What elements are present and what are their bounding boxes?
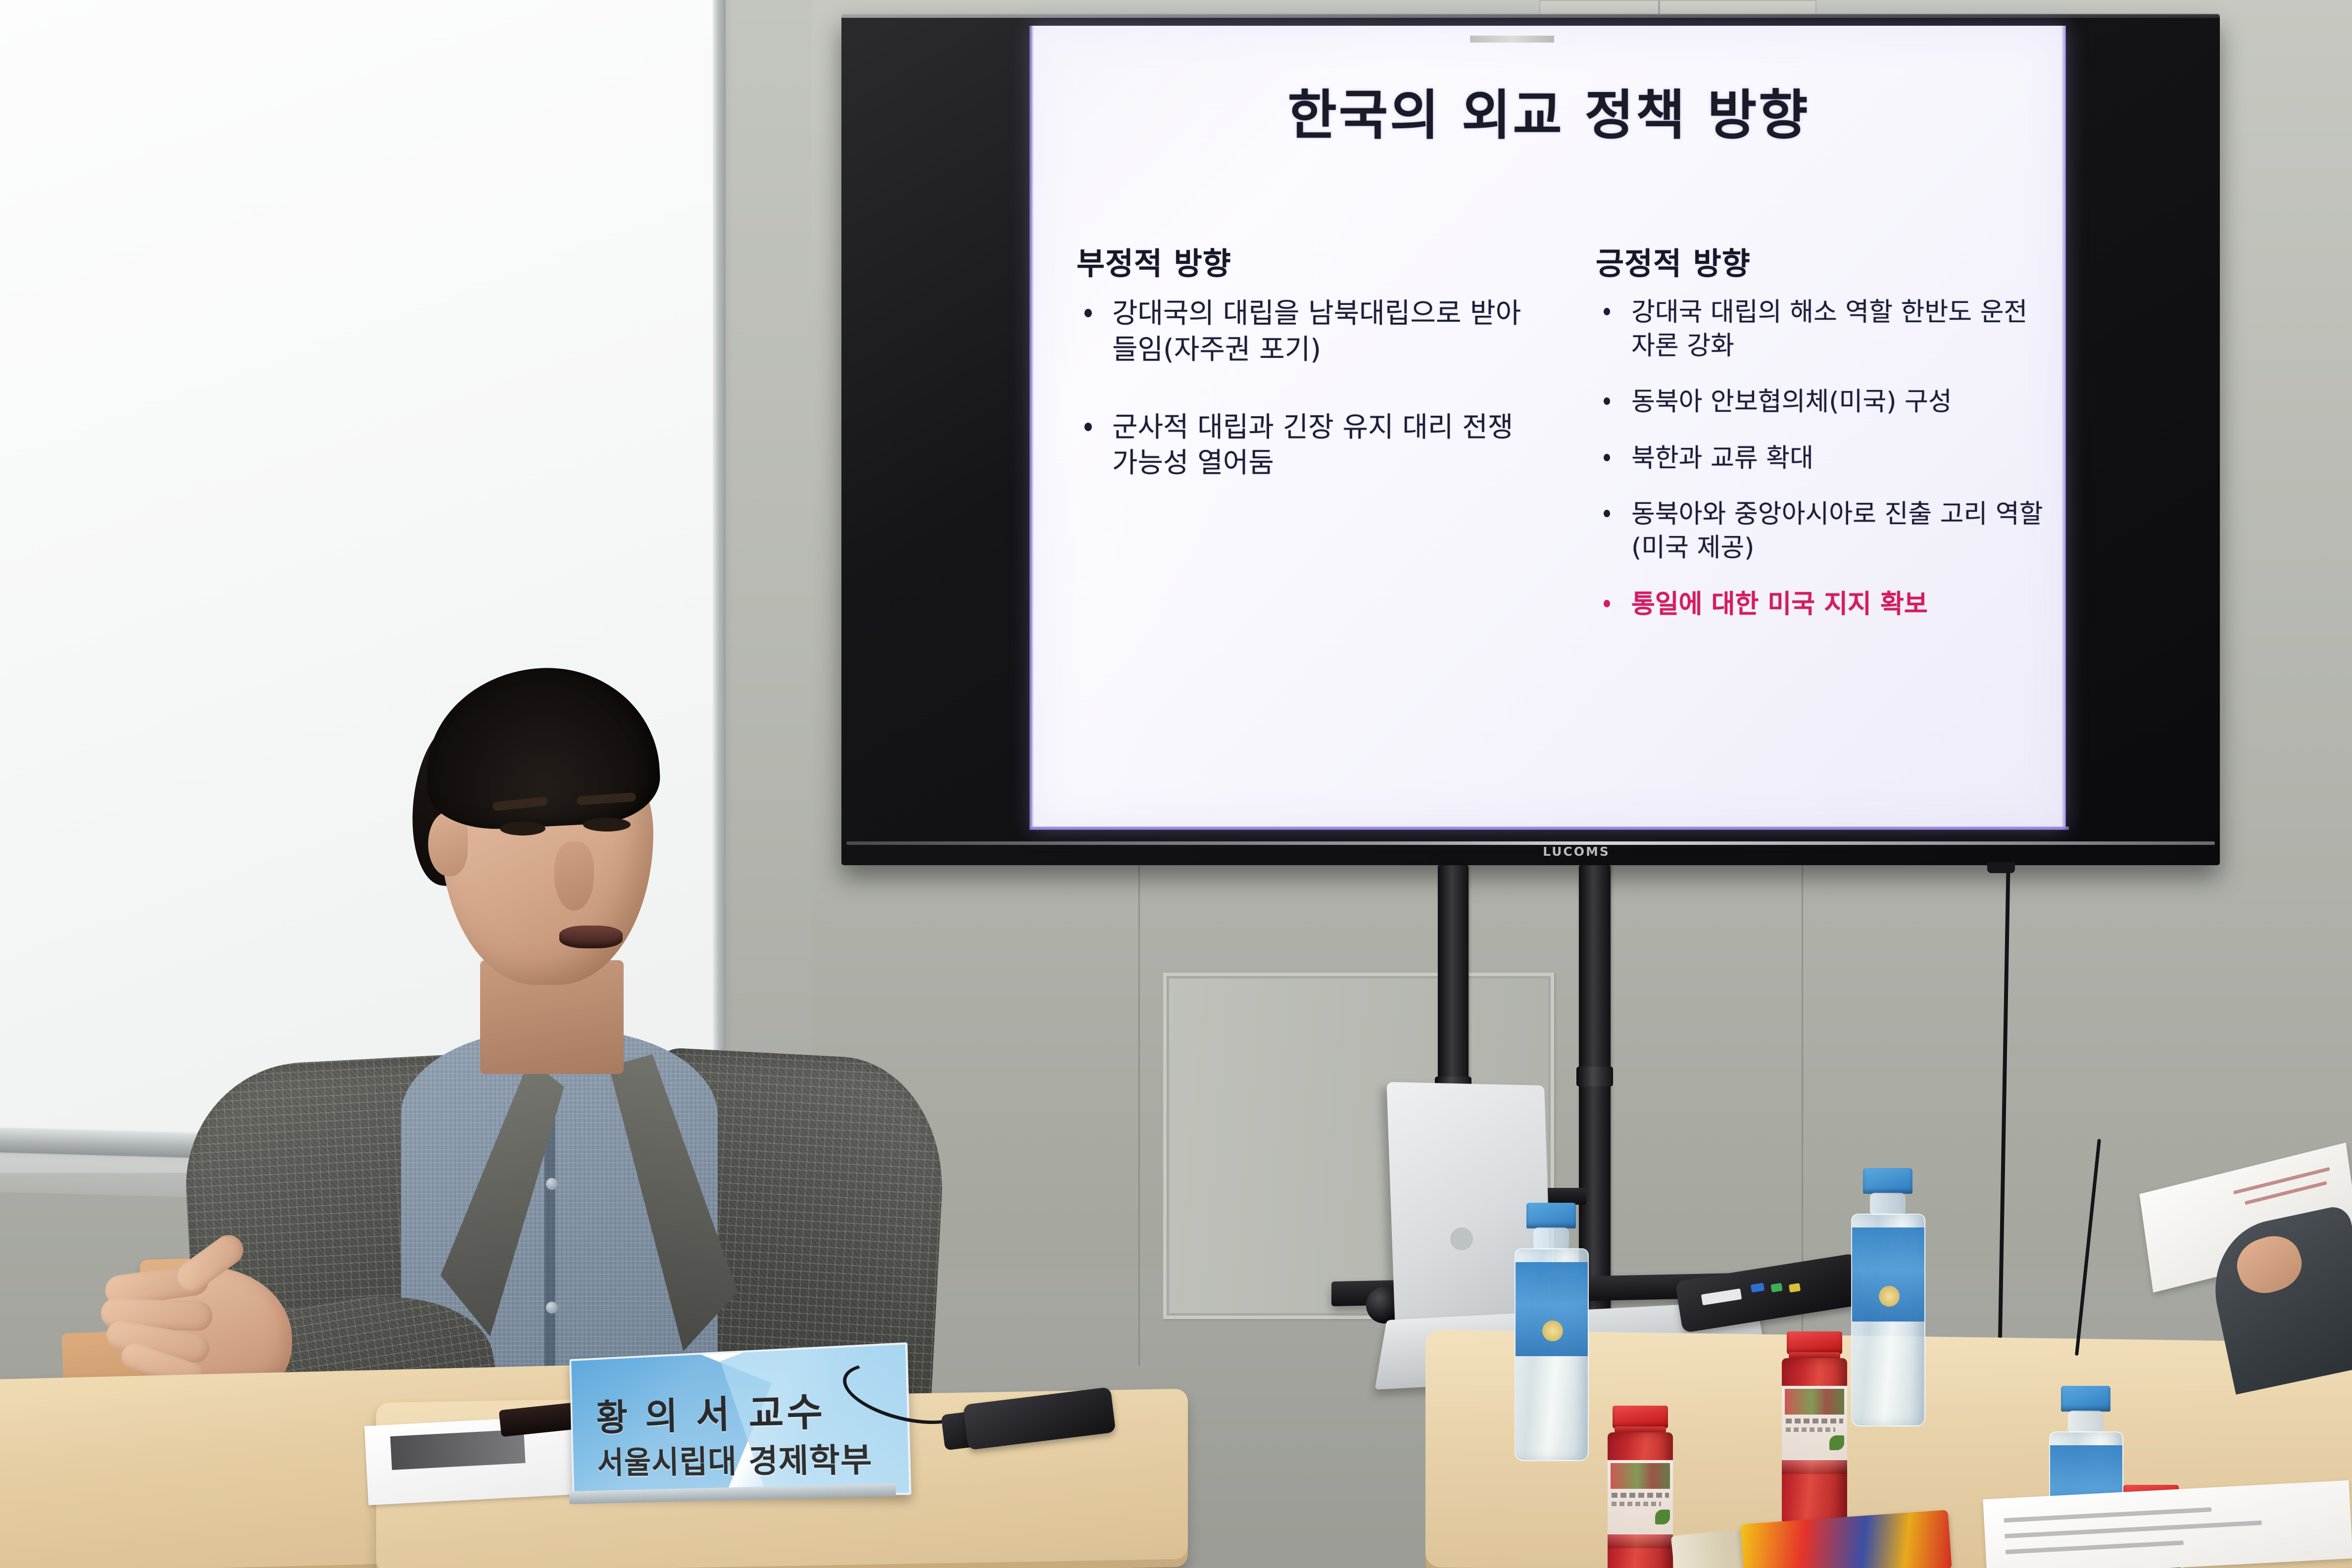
bottle-neck	[1870, 1193, 1906, 1216]
bullet-item: 동북아와 중앙아시아로 진출 고리 역할(미국 제공)	[1596, 498, 2049, 565]
leaf-icon	[1829, 1435, 1844, 1450]
bullet-text: 동북아와 중앙아시아로 진출 고리 역할(미국 제공)	[1631, 499, 2043, 563]
eye-right	[583, 818, 631, 832]
remote-button[interactable]	[1701, 1288, 1742, 1305]
bullet-item: 동북아 안보협의체(미국) 구성	[1596, 386, 2049, 419]
hair	[422, 662, 662, 833]
slide-column-negative: 부정적 방향 강대국의 대립을 남북대립으로 받아들임(자주권 포기) 군사적 …	[1032, 239, 1546, 783]
mouth	[559, 926, 623, 948]
display-ir-sensor	[1987, 862, 2015, 873]
bottle-cap	[1613, 1406, 1668, 1428]
bullet-item-highlighted: 통일에 대한 미국 지지 확보	[1596, 588, 2049, 622]
column-heading-positive: 긍정적 방향	[1596, 239, 2049, 283]
document-line	[2004, 1507, 2211, 1522]
bottle-cap	[1787, 1331, 1842, 1354]
bullet-dot-icon	[1604, 454, 1610, 461]
wall-seam	[1138, 841, 1140, 1366]
column-heading-negative: 부정적 방향	[1077, 239, 1529, 283]
bullet-text: 강대국 대립의 해소 역할 한반도 운전자론 강화	[1631, 297, 2027, 361]
remote-button[interactable]	[1789, 1283, 1801, 1292]
bottle-cap	[1526, 1203, 1576, 1228]
bottle-neck	[2068, 1411, 2104, 1433]
bottle-label	[1608, 1460, 1673, 1534]
label-text-lines	[1612, 1493, 1669, 1498]
bullet-item: 군사적 대립과 긴장 유지 대리 전쟁가능성 열어둠	[1077, 410, 1529, 482]
bottle-label	[1516, 1262, 1588, 1356]
label-text-lines	[1786, 1419, 1843, 1423]
bullet-item: 강대국 대립의 해소 역할 한반도 운전자론 강화	[1596, 296, 2049, 363]
remote-button[interactable]	[1751, 1283, 1764, 1293]
shirt-button	[546, 1178, 558, 1190]
slide-column-positive: 긍정적 방향 강대국 대립의 해소 역할 한반도 운전자론 강화 동북아 안보협…	[1546, 239, 2065, 783]
display-brand-logo: LUCOMS	[1515, 844, 1638, 861]
bottle-label-seal-icon	[1879, 1286, 1900, 1307]
leaf-icon	[1655, 1510, 1670, 1524]
bullet-dot-icon	[1604, 397, 1610, 405]
bullet-item: 북한과 교류 확대	[1596, 442, 2049, 476]
bottle-cap	[1863, 1168, 1912, 1194]
remote-button[interactable]	[1770, 1283, 1782, 1292]
document-line	[2233, 1167, 2330, 1194]
document-line	[2005, 1520, 2262, 1538]
lecture-room-photo: LUCOMS 한국의 외교 정책 방향 부정적 방향 강대국의 대립을 남북대립…	[0, 0, 2352, 1568]
bottle-cap	[2061, 1386, 2110, 1412]
label-text-lines	[1612, 1502, 1661, 1506]
bottle-label-seal-icon	[1542, 1321, 1563, 1341]
bullet-dot-icon	[1604, 600, 1610, 607]
bottle-label	[1852, 1227, 1924, 1322]
display-bezel-highlight	[841, 14, 2220, 18]
bullet-item: 강대국의 대립을 남북대립으로 받아들임(자주권 포기)	[1077, 296, 1529, 368]
bullet-text: 동북아 안보협의체(미국) 구성	[1631, 387, 1952, 417]
laptop-logo	[1450, 1227, 1473, 1250]
bullet-text: 군사적 대립과 긴장 유지 대리 전쟁가능성 열어둠	[1112, 411, 1513, 480]
nameplate-affiliation: 서울시립대 경제학부	[597, 1433, 905, 1482]
bottle-waist	[1782, 1459, 1847, 1474]
bullet-text: 강대국의 대립을 남북대립으로 받아들임(자주권 포기)	[1112, 297, 1521, 366]
eye-left	[500, 822, 545, 835]
slide-content: 한국의 외교 정책 방향 부정적 방향 강대국의 대립을 남북대립으로 받아들임…	[1032, 26, 2065, 830]
bullet-dot-icon	[1604, 510, 1610, 517]
bullet-text: 북한과 교류 확대	[1631, 443, 1813, 473]
slide-columns: 부정적 방향 강대국의 대립을 남북대립으로 받아들임(자주권 포기) 군사적 …	[1032, 239, 2065, 783]
document-line	[2006, 1540, 2184, 1554]
bullet-dot-icon	[1084, 309, 1092, 317]
bottle-label	[1782, 1386, 1847, 1460]
slide-title: 한국의 외교 정책 방향	[1032, 85, 2065, 146]
bullet-text: 통일에 대한 미국 지지 확보	[1631, 589, 1928, 619]
bullet-list-negative: 강대국의 대립을 남북대립으로 받아들임(자주권 포기) 군사적 대립과 긴장 …	[1077, 296, 1529, 482]
shirt-button	[546, 1302, 558, 1314]
nose	[554, 841, 594, 911]
bottle-waist	[1608, 1533, 1673, 1548]
label-fruit-image	[1611, 1463, 1670, 1489]
label-fruit-image	[1785, 1389, 1844, 1415]
bullet-dot-icon	[1604, 308, 1610, 315]
bullet-list-positive: 강대국 대립의 해소 역할 한반도 운전자론 강화 동북아 안보협의체(미국) …	[1596, 296, 2049, 621]
bottle-neck	[1533, 1227, 1569, 1250]
stand-pole-joint	[1576, 1067, 1613, 1086]
bullet-dot-icon	[1084, 423, 1092, 431]
label-text-lines	[1786, 1427, 1835, 1432]
